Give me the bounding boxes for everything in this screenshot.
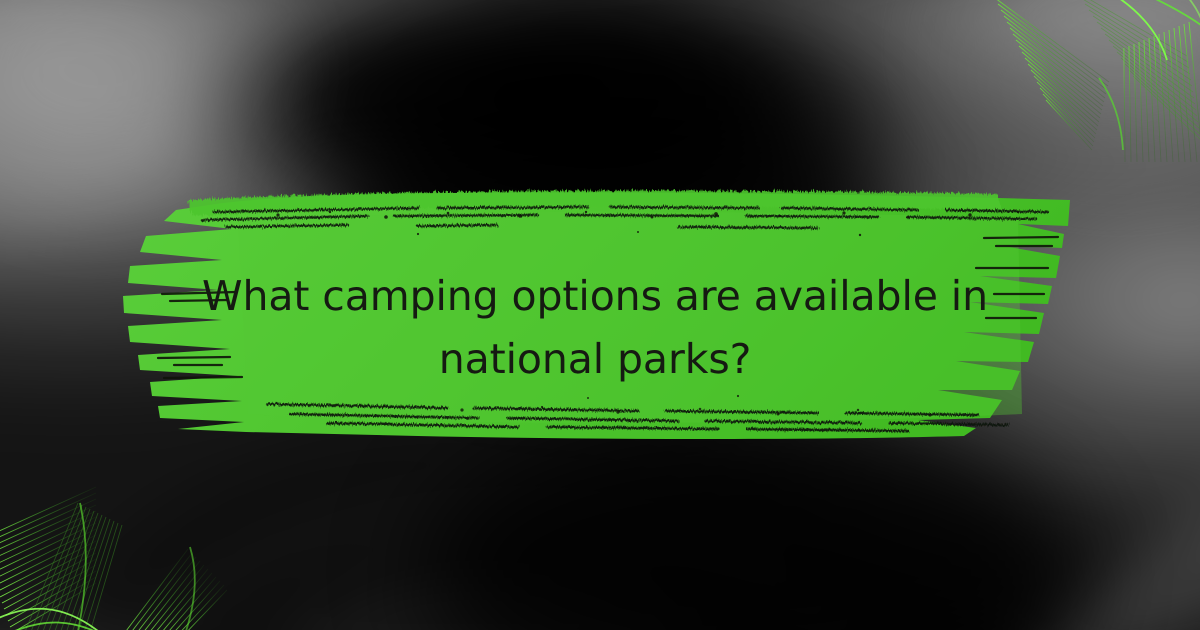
page-title: What camping options are available in na… (175, 265, 1015, 391)
social-card-canvas: What camping options are available in na… (0, 0, 1200, 630)
